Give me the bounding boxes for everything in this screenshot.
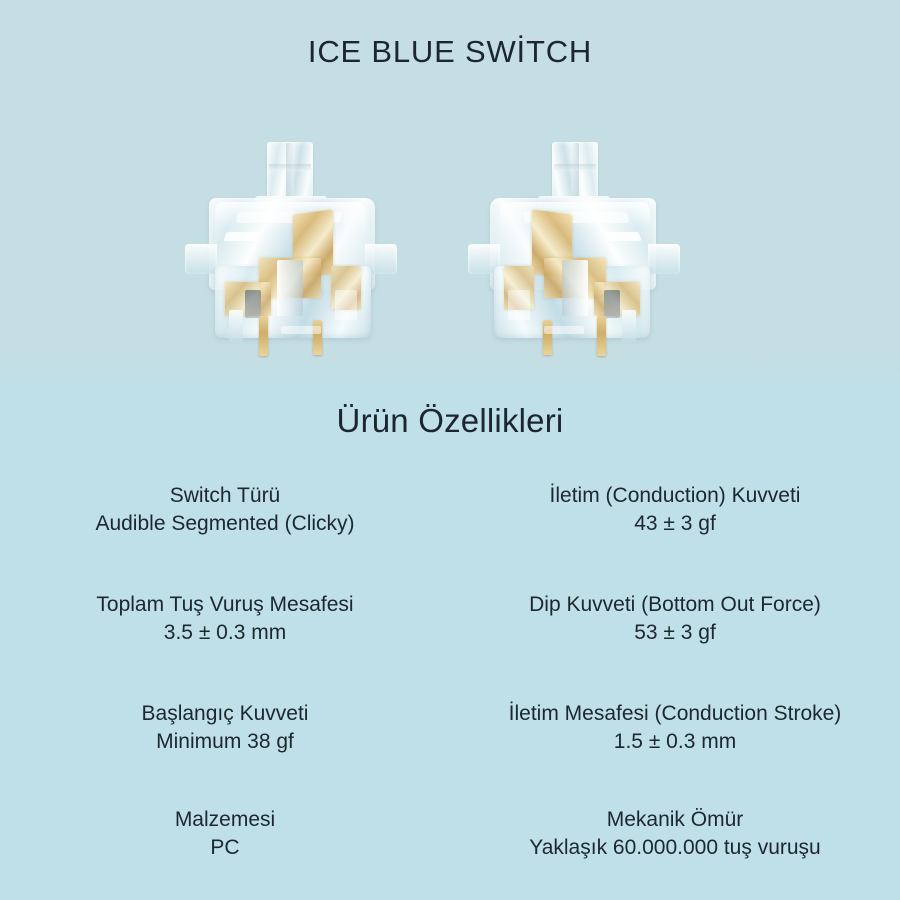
specular-glint-side xyxy=(508,290,530,320)
stem-slot-horizontal xyxy=(269,164,311,171)
spec-value: 53 ± 3 gf xyxy=(450,619,900,647)
spec-row: Switch Türü Audible Segmented (Clicky) İ… xyxy=(0,482,900,538)
spec-row: Toplam Tuş Vuruş Mesafesi 3.5 ± 0.3 mm D… xyxy=(0,591,900,647)
specular-glint-bottom xyxy=(281,326,321,334)
spec-item-toplam-mesafe: Toplam Tuş Vuruş Mesafesi 3.5 ± 0.3 mm xyxy=(0,591,450,647)
spec-value: Yaklaşık 60.000.000 tuş vuruşu xyxy=(450,834,900,862)
switch-photo-right xyxy=(470,140,680,355)
spec-item-iletim-mesafesi: İletim Mesafesi (Conduction Stroke) 1.5 … xyxy=(450,700,900,756)
alignment-post xyxy=(622,310,636,342)
spec-label: Toplam Tuş Vuruş Mesafesi xyxy=(0,591,450,619)
specular-glint-bottom xyxy=(544,326,584,334)
stem-slot-vertical xyxy=(571,143,579,199)
specs-heading: Ürün Özellikleri xyxy=(0,402,900,440)
latch-wing-left xyxy=(648,244,680,274)
specs-grid: Switch Türü Audible Segmented (Clicky) İ… xyxy=(0,470,900,862)
specular-glint-top xyxy=(223,232,260,241)
page-title: ICE BLUE SWİTCH xyxy=(0,34,900,70)
switch-stem-icon xyxy=(552,142,598,204)
spec-label: İletim (Conduction) Kuvveti xyxy=(450,482,900,510)
latch-wing-left xyxy=(185,244,217,274)
spec-value: Audible Segmented (Clicky) xyxy=(0,510,450,538)
spec-value: 3.5 ± 0.3 mm xyxy=(0,619,450,647)
spec-item-baslangic-kuvveti: Başlangıç Kuvveti Minimum 38 gf xyxy=(0,700,450,756)
specular-glint-top xyxy=(604,232,641,241)
spec-label: Başlangıç Kuvveti xyxy=(0,700,450,728)
spec-label: Dip Kuvveti (Bottom Out Force) xyxy=(450,591,900,619)
spec-label: Malzemesi xyxy=(0,806,450,834)
metal-spring-clip xyxy=(604,290,620,318)
switch-stem-icon xyxy=(267,142,313,204)
spec-value: 43 ± 3 gf xyxy=(450,510,900,538)
spec-row: Başlangıç Kuvveti Minimum 38 gf İletim M… xyxy=(0,700,900,756)
spec-row: Malzemesi PC Mekanik Ömür Yaklaşık 60.00… xyxy=(0,806,900,862)
stem-slot-horizontal xyxy=(554,164,596,171)
stem-slot-vertical xyxy=(286,143,294,199)
spec-item-switch-turu: Switch Türü Audible Segmented (Clicky) xyxy=(0,482,450,538)
contact-leaf xyxy=(562,260,588,316)
spec-value: 1.5 ± 0.3 mm xyxy=(450,728,900,756)
contact-leaf xyxy=(277,260,303,316)
alignment-post xyxy=(229,310,243,342)
spec-item-dip-kuvveti: Dip Kuvveti (Bottom Out Force) 53 ± 3 gf xyxy=(450,591,900,647)
gold-pin-one xyxy=(259,316,268,356)
product-image-stage xyxy=(0,126,900,358)
gold-pin-one xyxy=(597,316,606,356)
spec-label: Mekanik Ömür xyxy=(450,806,900,834)
panel-divider xyxy=(0,356,900,384)
spec-label: Switch Türü xyxy=(0,482,450,510)
spec-item-iletim-kuvveti: İletim (Conduction) Kuvveti 43 ± 3 gf xyxy=(450,482,900,538)
spec-item-malzemesi: Malzemesi PC xyxy=(0,806,450,862)
spec-value: Minimum 38 gf xyxy=(0,728,450,756)
spec-item-mekanik-omur: Mekanik Ömür Yaklaşık 60.000.000 tuş vur… xyxy=(450,806,900,862)
spec-label: İletim Mesafesi (Conduction Stroke) xyxy=(450,700,900,728)
product-infographic: ICE BLUE SWİTCH xyxy=(0,0,900,900)
metal-spring-clip xyxy=(245,290,261,318)
specular-glint-side xyxy=(335,290,357,320)
spec-value: PC xyxy=(0,834,450,862)
switch-photo-left xyxy=(185,140,395,355)
